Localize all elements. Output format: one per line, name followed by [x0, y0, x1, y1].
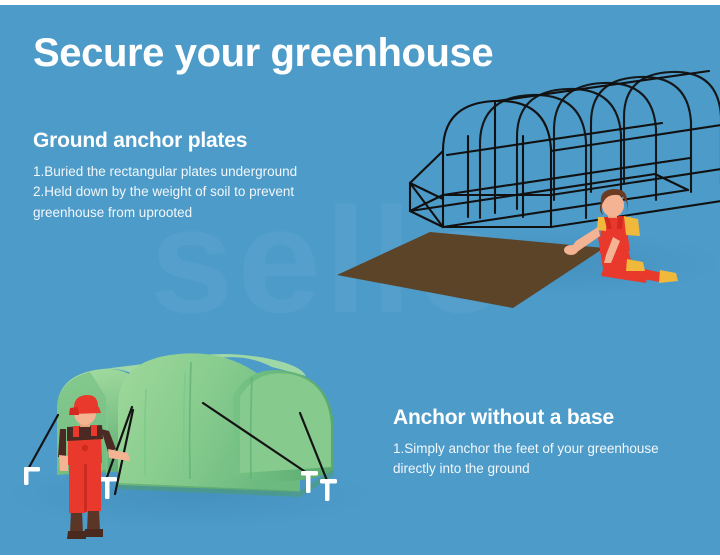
section-body-anchor-without-a-base: 1.Simply anchor the feet of your greenho…: [393, 439, 693, 478]
infographic-canvas: sello: [0, 5, 720, 555]
page-title: Secure your greenhouse: [33, 29, 493, 77]
list-item: 2.Held down by the weight of soil to pre…: [33, 182, 353, 201]
list-item: 1.Simply anchor the feet of your greenho…: [393, 439, 693, 458]
infographic-root: sello: [0, 0, 720, 560]
section-anchor-without-a-base: Anchor without a base 1.Simply anchor th…: [393, 405, 693, 480]
section-body-ground-anchor-plates: 1.Buried the rectangular plates undergro…: [33, 162, 353, 221]
section-heading-ground-anchor-plates: Ground anchor plates: [33, 128, 353, 154]
list-item: greenhouse from uprooted: [33, 203, 353, 222]
section-heading-anchor-without-a-base: Anchor without a base: [393, 405, 693, 431]
text-layer: Secure your greenhouse Ground anchor pla…: [0, 5, 720, 555]
list-item: 1.Buried the rectangular plates undergro…: [33, 162, 353, 181]
list-item: directly into the ground: [393, 459, 693, 478]
section-ground-anchor-plates: Ground anchor plates 1.Buried the rectan…: [33, 128, 353, 223]
